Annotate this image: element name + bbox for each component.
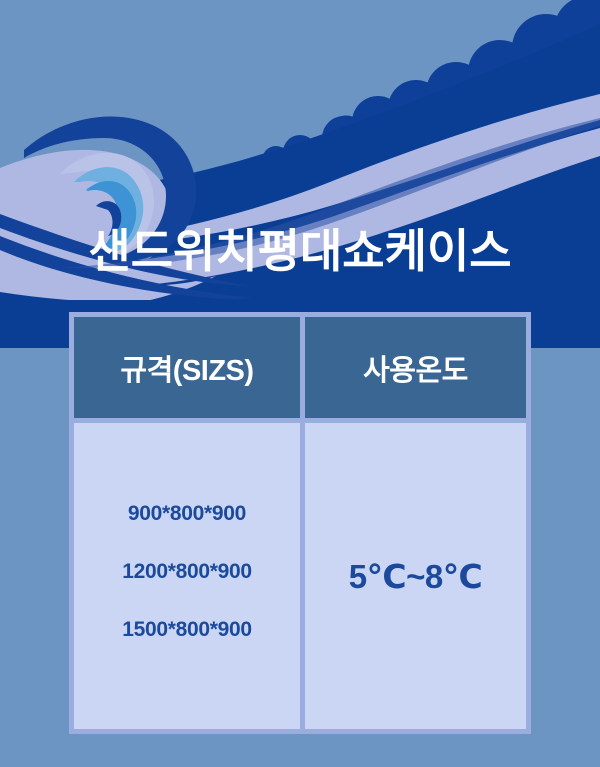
column-header-temperature: 사용온도	[305, 317, 526, 418]
list-item: 1500*800*900	[122, 618, 252, 642]
product-spec-poster: 샌드위치평대쇼케이스 규격(SIZS) 사용온도 900*800*900 120…	[0, 0, 600, 767]
table-header-row: 규격(SIZS) 사용온도	[74, 317, 526, 418]
cell-temperature-value: 5℃~8℃	[305, 423, 526, 729]
cell-size-values: 900*800*900 1200*800*900 1500*800*900	[74, 423, 300, 729]
size-list: 900*800*900 1200*800*900 1500*800*900	[74, 502, 300, 650]
table-body-row: 900*800*900 1200*800*900 1500*800*900 5℃…	[74, 423, 526, 729]
ocean-wave-banner	[0, 0, 600, 348]
specification-table: 규격(SIZS) 사용온도 900*800*900 1200*800*900 1…	[69, 312, 531, 734]
temperature-range: 5℃~8℃	[349, 557, 482, 596]
list-item: 900*800*900	[128, 502, 246, 526]
column-header-size: 규격(SIZS)	[74, 317, 300, 418]
page-title: 샌드위치평대쇼케이스	[0, 222, 600, 280]
list-item: 1200*800*900	[122, 560, 252, 584]
